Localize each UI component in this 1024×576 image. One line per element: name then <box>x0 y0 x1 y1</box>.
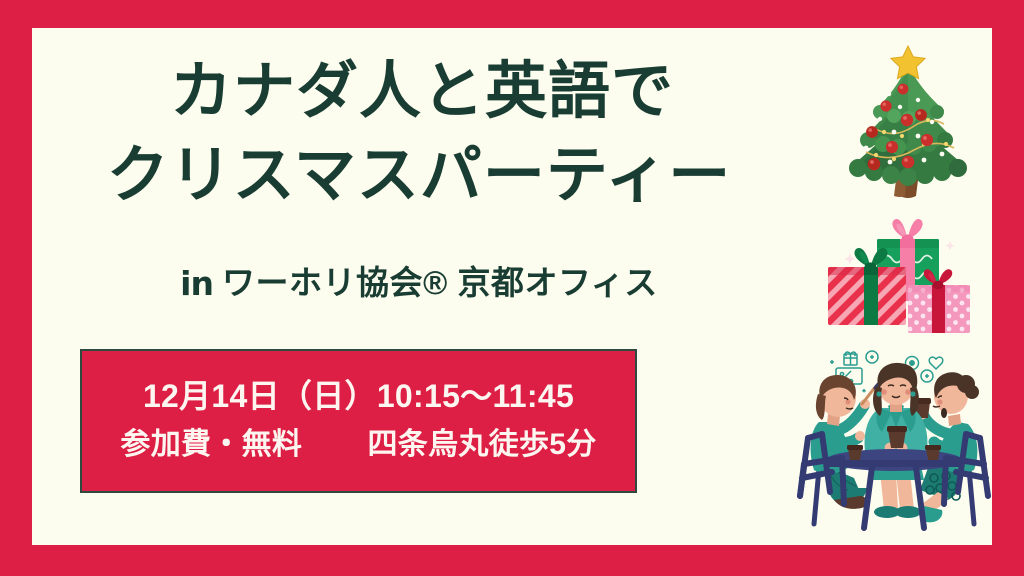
poster-root: カナダ人と英語で クリスマスパーティー in ワーホリ協会® 京都オフィス 12… <box>0 0 1024 576</box>
poster-canvas: カナダ人と英語で クリスマスパーティー in ワーホリ協会® 京都オフィス 12… <box>32 28 992 545</box>
event-fee-and-access: 参加費・無料 四条烏丸徒歩5分 <box>82 428 635 461</box>
event-details-box: 12月14日（日）10:15〜11:45 参加費・無料 四条烏丸徒歩5分 <box>80 349 637 493</box>
event-fee: 参加費・無料 <box>120 428 302 461</box>
gift-boxes-icon <box>822 215 988 337</box>
subtitle: in ワーホリ協会® 京都オフィス <box>74 266 764 299</box>
page-title-line-1: カナダ人と英語で <box>74 50 764 134</box>
event-datetime: 12月14日（日）10:15〜11:45 <box>82 379 635 414</box>
people-at-table-icon <box>794 346 992 538</box>
christmas-tree-icon <box>832 44 984 209</box>
in-logo-icon: in <box>180 267 213 300</box>
page-title: カナダ人と英語で クリスマスパーティー <box>74 50 764 218</box>
subtitle-text: ワーホリ協会® 京都オフィス <box>222 266 658 299</box>
page-title-line-2: クリスマスパーティー <box>74 134 764 218</box>
event-access: 四条烏丸徒歩5分 <box>368 428 597 461</box>
